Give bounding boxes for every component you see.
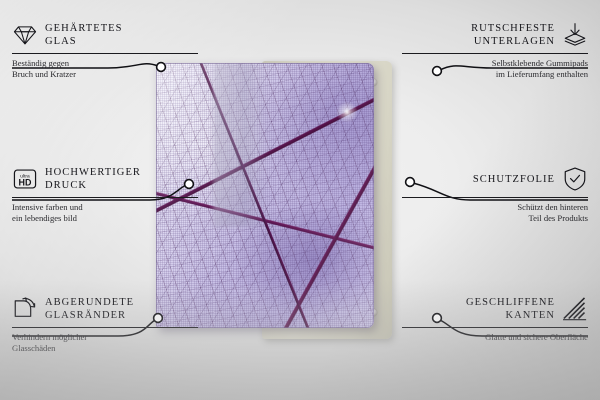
feature-rutschfeste-unterlagen: RUTSCHFESTE UNTERLAGEN Selbstklebende Gu… <box>402 22 588 80</box>
feature-rule <box>12 197 198 198</box>
feature-rule <box>402 197 588 198</box>
ultra-hd-badge-icon: ultra HD <box>12 166 38 192</box>
feature-description: Glatte und sichere Oberfläche <box>402 332 588 343</box>
arrow-down-pad-icon <box>562 22 588 48</box>
feature-rule <box>12 53 198 54</box>
infographic-canvas: GEHÄRTETES GLAS Beständig gegen Bruch un… <box>0 0 600 400</box>
feature-rule <box>402 327 588 328</box>
feature-geschliffene-kanten: GESCHLIFFENE KANTEN Glatte und sichere O… <box>402 296 588 343</box>
feature-description: Selbstklebende Gummipads im Lieferumfang… <box>402 58 588 80</box>
feature-schutzfolie: SCHUTZFOLIE Schützt den hinteren Teil de… <box>402 166 588 224</box>
diamond-icon <box>12 22 38 48</box>
badge-big-label: HD <box>19 178 32 188</box>
feature-title: ABGERUNDETE GLASRÄNDER <box>45 296 134 322</box>
feature-title: GEHÄRTETES GLAS <box>45 22 123 48</box>
rounded-corner-icon <box>12 296 38 322</box>
feature-title: GESCHLIFFENE KANTEN <box>466 296 555 322</box>
feature-description: Schützt den hinteren Teil des Produkts <box>402 202 588 224</box>
polished-edge-hatch-icon <box>562 296 588 322</box>
feature-rule <box>12 327 198 328</box>
feature-description: Intensive farben und ein lebendiges bild <box>12 202 198 224</box>
feature-abgerundete-glasraender: ABGERUNDETE GLASRÄNDER Verhindern möglic… <box>12 296 198 354</box>
feature-title: RUTSCHFESTE UNTERLAGEN <box>471 22 555 48</box>
feature-title: HOCHWERTIGER DRUCK <box>45 166 141 192</box>
feature-hochwertiger-druck: ultra HD HOCHWERTIGER DRUCK Intensive fa… <box>12 166 198 224</box>
shield-check-icon <box>562 166 588 192</box>
feature-gehaertetes-glas: GEHÄRTETES GLAS Beständig gegen Bruch un… <box>12 22 198 80</box>
feature-description: Verhindern möglicher Glasschäden <box>12 332 198 354</box>
feature-rule <box>402 53 588 54</box>
feature-title: SCHUTZFOLIE <box>473 173 555 186</box>
feature-description: Beständig gegen Bruch und Kratzer <box>12 58 198 80</box>
